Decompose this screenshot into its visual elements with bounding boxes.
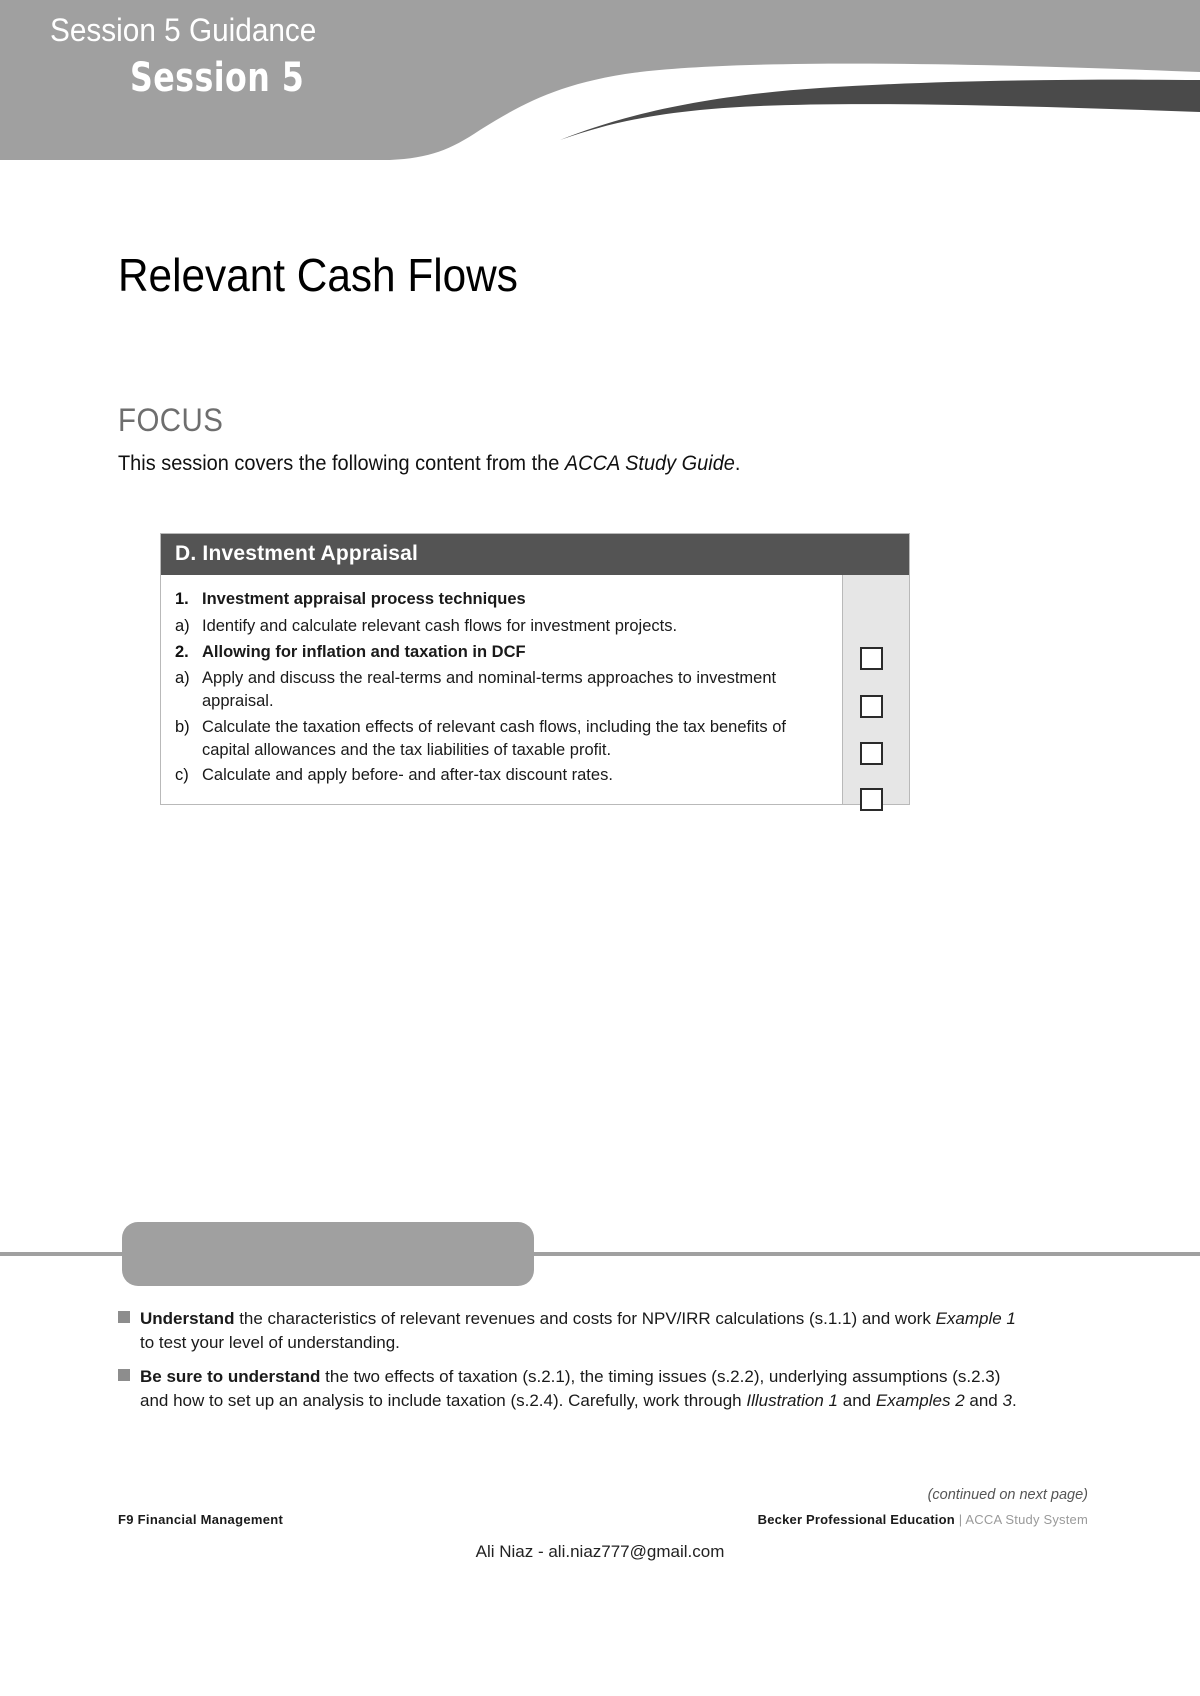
guidance-item-text: Be sure to understand the two effects of… [140,1365,1033,1414]
syllabus-row-text: Investment appraisal process techniques [202,588,830,611]
syllabus-checkbox[interactable] [860,742,883,765]
syllabus-section-header: D.Investment Appraisal [161,534,909,575]
focus-intro-italic: ACCA Study Guide [565,452,735,475]
syllabus-row-marker: 1. [175,588,202,611]
syllabus-row-text: Identify and calculate relevant cash flo… [202,615,830,638]
syllabus-section-letter: D. [175,542,196,565]
footer-publisher: Becker Professional Education | ACCA Stu… [758,1512,1088,1527]
user-watermark: Ali Niaz - ali.niaz777@gmail.com [0,1542,1200,1562]
syllabus-row-text: Calculate and apply before- and after-ta… [202,764,830,787]
footer-product-name: ACCA Study System [965,1512,1088,1527]
syllabus-row: b) Calculate the taxation effects of rel… [175,716,830,762]
syllabus-row-marker: b) [175,716,202,762]
syllabus-row-marker: c) [175,764,202,787]
footer-publisher-name: Becker Professional Education [758,1512,955,1527]
footer-course-title: F9 Financial Management [118,1512,283,1527]
syllabus-row-text: Calculate the taxation effects of releva… [202,716,830,762]
guidance-item-text: Understand the characteristics of releva… [140,1307,1033,1356]
syllabus-row: 2. Allowing for inflation and taxation i… [175,641,830,664]
syllabus-row-text: Allowing for inflation and taxation in D… [202,641,830,664]
header-dark-swoosh [560,80,1200,140]
square-bullet-icon [118,1365,140,1414]
square-bullet-icon [118,1307,140,1356]
guidance-pill-label: Session 5 Guidance [50,12,316,49]
syllabus-row: 1. Investment appraisal process techniqu… [175,588,830,611]
syllabus-row-marker: a) [175,615,202,638]
continued-note: (continued on next page) [928,1487,1088,1503]
syllabus-item-list: 1. Investment appraisal process techniqu… [161,575,842,804]
page-title: Relevant Cash Flows [118,248,518,302]
session-number-label: Session 5 [130,55,304,101]
footer-separator: | [955,1512,965,1527]
focus-heading: FOCUS [118,402,223,439]
syllabus-row-text: Apply and discuss the real-terms and nom… [202,667,830,713]
syllabus-row-marker: a) [175,667,202,713]
focus-intro-before: This session covers the following conten… [118,452,565,475]
guidance-item: Be sure to understand the two effects of… [118,1365,1033,1414]
syllabus-section-title: Investment Appraisal [202,542,418,565]
syllabus-checkbox-column [842,575,909,804]
syllabus-row: a) Identify and calculate relevant cash … [175,615,830,638]
guidance-item: Understand the characteristics of releva… [118,1307,1033,1356]
syllabus-body: 1. Investment appraisal process techniqu… [161,575,909,804]
focus-intro-after: . [735,452,741,475]
syllabus-checkbox[interactable] [860,695,883,718]
syllabus-row: c) Calculate and apply before- and after… [175,764,830,787]
syllabus-table: D.Investment Appraisal 1. Investment app… [160,533,910,805]
guidance-list: Understand the characteristics of releva… [118,1307,1033,1422]
syllabus-row-marker: 2. [175,641,202,664]
focus-intro-text: This session covers the following conten… [118,452,740,476]
syllabus-row: a) Apply and discuss the real-terms and … [175,667,830,713]
syllabus-checkbox[interactable] [860,647,883,670]
guidance-pill [122,1222,534,1286]
syllabus-checkbox[interactable] [860,788,883,811]
